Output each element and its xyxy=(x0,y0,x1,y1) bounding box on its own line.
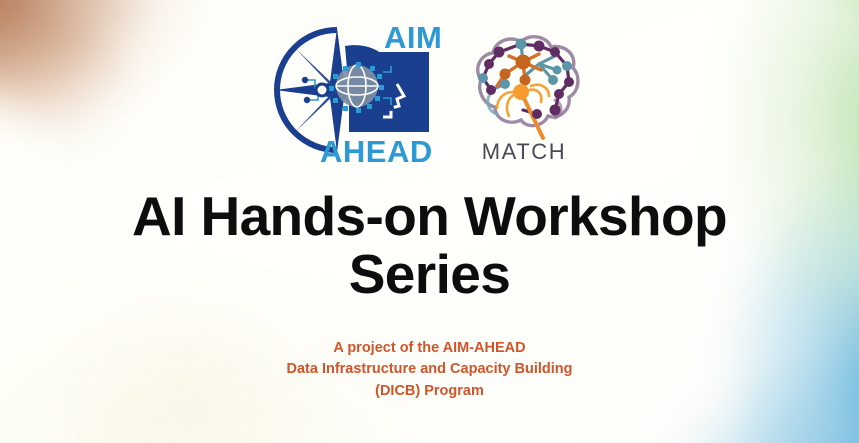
logo-row: AIM AHEAD xyxy=(271,22,589,167)
aim-wordmark: AIM xyxy=(384,22,442,55)
slide-content: AIM AHEAD xyxy=(0,0,859,443)
match-wordmark: MATCH xyxy=(481,139,566,164)
subtitle-line-1: A project of the AIM-AHEAD xyxy=(120,338,740,360)
subtitle-line-3: (DICB) Program xyxy=(120,381,740,403)
match-logo: MATCH xyxy=(459,22,589,167)
aim-ahead-logo: AIM AHEAD xyxy=(271,22,443,167)
subtitle: A project of the AIM-AHEAD Data Infrastr… xyxy=(120,338,740,403)
ahead-wordmark: AHEAD xyxy=(320,134,433,167)
page-title: AI Hands-on Workshop Series xyxy=(80,187,780,304)
subtitle-line-2: Data Infrastructure and Capacity Buildin… xyxy=(120,359,740,381)
slide-canvas: AIM AHEAD xyxy=(0,0,859,443)
